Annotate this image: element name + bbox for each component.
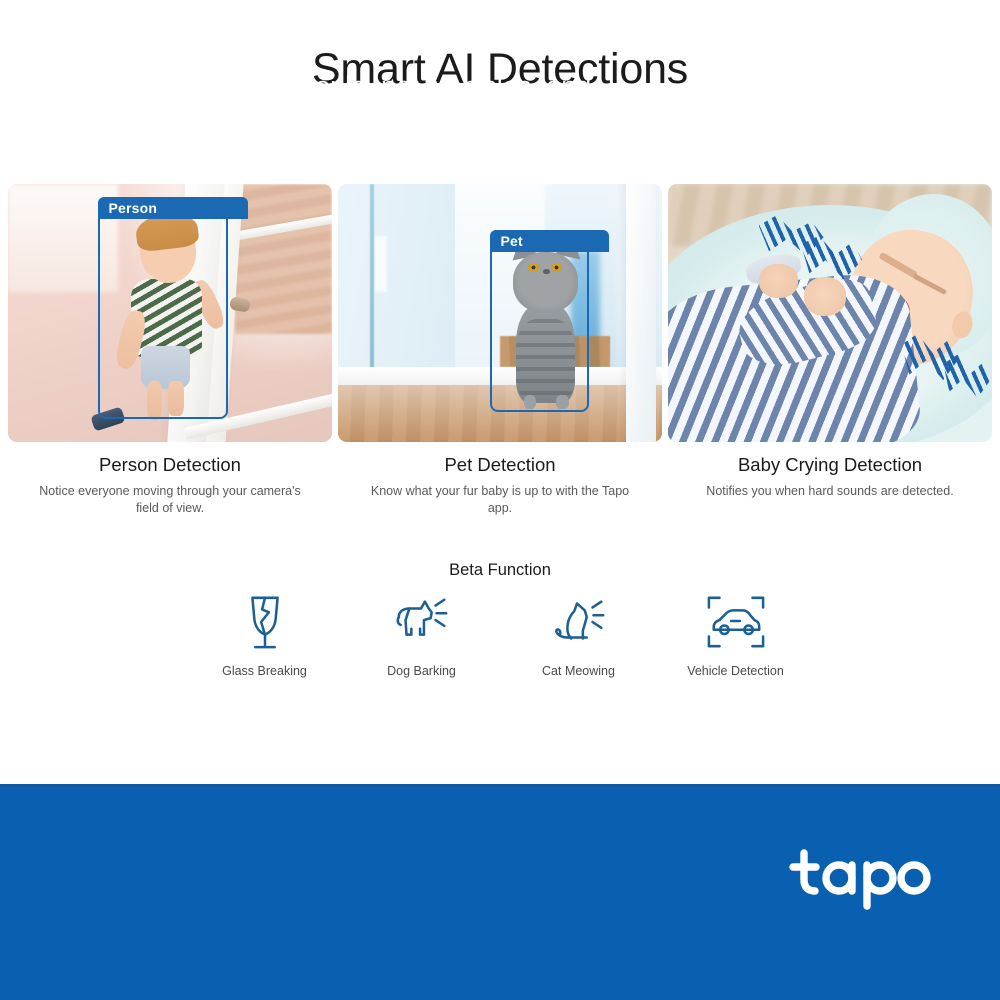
baby-fist-right	[804, 277, 846, 316]
beta-item-vehicle-detection[interactable]: Vehicle Detection	[657, 592, 814, 697]
beta-section-title: Beta Function	[0, 558, 1000, 582]
detection-card-person[interactable]: Person	[8, 184, 332, 442]
captions-row: Person Detection Notice everyone moving …	[8, 452, 992, 522]
beta-item-label: Vehicle Detection	[687, 663, 784, 680]
door-edge-left	[370, 184, 374, 385]
caption-description: Notifies you when hard sounds are detect…	[668, 483, 992, 500]
cat-meowing-icon	[548, 592, 610, 652]
caption-title: Person Detection	[8, 452, 332, 478]
vehicle-detection-icon	[705, 592, 767, 652]
beta-item-cat-meowing[interactable]: Cat Meowing	[500, 592, 657, 697]
door-panel-left	[375, 236, 387, 293]
caption-description: Know what your fur baby is up to with th…	[338, 483, 662, 517]
door-jamb-right	[626, 184, 655, 442]
detection-card-baby[interactable]	[668, 184, 992, 442]
baby-eye	[912, 274, 947, 296]
caption-description: Notice everyone moving through your came…	[8, 483, 332, 517]
caption-title: Baby Crying Detection	[668, 452, 992, 478]
dog-barking-icon	[391, 592, 453, 652]
bounding-box-label: Person	[98, 197, 248, 219]
bounding-box-person: Person	[98, 197, 228, 419]
beta-item-glass-breaking[interactable]: Glass Breaking	[186, 592, 343, 697]
broken-glass-icon	[234, 592, 296, 652]
bounding-box-label: Pet	[490, 230, 609, 252]
caption-person: Person Detection Notice everyone moving …	[8, 452, 332, 522]
detection-cards-row: Person	[8, 184, 992, 442]
caption-title: Pet Detection	[338, 452, 662, 478]
bounding-box-pet: Pet	[490, 230, 589, 412]
beta-item-dog-barking[interactable]: Dog Barking	[343, 592, 500, 697]
detection-card-pet[interactable]: Pet	[338, 184, 662, 442]
baby-fist-left	[759, 264, 798, 298]
beta-item-label: Cat Meowing	[542, 663, 615, 680]
beta-item-label: Glass Breaking	[222, 663, 307, 680]
beta-items-row: Glass Breaking Dog Barking	[186, 592, 814, 697]
caption-baby: Baby Crying Detection Notifies you when …	[668, 452, 992, 522]
baby-scene-image	[668, 184, 992, 442]
wood-floor-right	[235, 184, 332, 334]
beta-item-label: Dog Barking	[387, 663, 456, 680]
footer-tagline: Smart AI identifies people, pet, vehicle…	[60, 66, 710, 148]
caption-pet: Pet Detection Know what your fur baby is…	[338, 452, 662, 522]
tapo-logo	[788, 846, 948, 912]
